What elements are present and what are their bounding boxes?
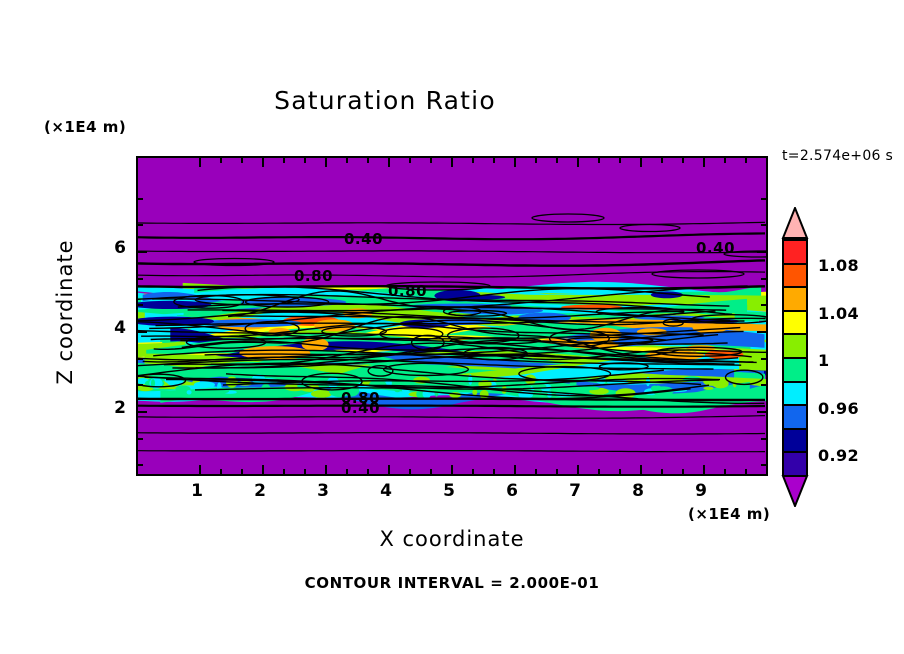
x-tick-minor xyxy=(430,469,432,474)
x-tick-label: 1 xyxy=(182,481,212,501)
x-tick-label: 2 xyxy=(245,481,275,501)
contour-label: 0.80 xyxy=(292,267,335,285)
x-tick-minor xyxy=(346,469,348,474)
x-tick-top-minor xyxy=(472,158,474,163)
y-tick-right-major xyxy=(757,251,766,253)
y-tick-label: 6 xyxy=(104,238,126,258)
y-tick-minor xyxy=(138,278,143,280)
x-tick-top-minor xyxy=(409,158,411,163)
colorbar-band xyxy=(784,312,806,336)
y-tick-right-minor xyxy=(761,304,766,306)
x-tick-top-major xyxy=(703,158,705,167)
colorbar-band xyxy=(784,359,806,383)
x-tick-minor xyxy=(283,469,285,474)
x-tick-minor xyxy=(682,469,684,474)
colorbar-band xyxy=(784,406,806,430)
x-tick-label: 6 xyxy=(497,481,527,501)
x-tick-top-major xyxy=(325,158,327,167)
x-tick-top-minor xyxy=(493,158,495,163)
contour-field xyxy=(138,158,766,474)
x-tick-label: 3 xyxy=(308,481,338,501)
x-tick-minor xyxy=(472,469,474,474)
colorbar[interactable] xyxy=(781,207,809,507)
x-tick-top-major xyxy=(514,158,516,167)
y-tick-minor xyxy=(138,438,143,440)
x-tick-top-major xyxy=(451,158,453,167)
x-tick-major xyxy=(640,465,642,474)
x-tick-label: 4 xyxy=(371,481,401,501)
x-tick-top-minor xyxy=(535,158,537,163)
colorbar-tick-label: 0.92 xyxy=(818,446,859,465)
y-tick-minor xyxy=(138,464,143,466)
y-tick-minor xyxy=(138,384,143,386)
x-axis-units-label: (×1E4 m) xyxy=(688,505,770,523)
y-tick-right-minor xyxy=(761,198,766,200)
x-tick-top-minor xyxy=(724,158,726,163)
x-tick-minor xyxy=(493,469,495,474)
x-tick-minor xyxy=(367,469,369,474)
x-tick-top-minor xyxy=(367,158,369,163)
colorbar-band xyxy=(784,430,806,454)
colorbar-bands[interactable] xyxy=(782,239,808,475)
colorbar-tick-label: 1 xyxy=(818,351,830,370)
colorbar-tick-label: 0.96 xyxy=(818,399,859,418)
x-tick-top-minor xyxy=(346,158,348,163)
x-tick-minor xyxy=(409,469,411,474)
y-tick-label: 4 xyxy=(104,318,126,338)
x-tick-major xyxy=(577,465,579,474)
x-tick-minor xyxy=(304,469,306,474)
colorbar-bottom-arrow-icon xyxy=(781,475,809,507)
x-tick-label: 5 xyxy=(434,481,464,501)
x-axis-title: X coordinate xyxy=(136,527,768,551)
colorbar-band xyxy=(784,453,806,477)
colorbar-tick-label: 1.08 xyxy=(818,256,859,275)
y-tick-minor xyxy=(138,358,143,360)
x-tick-minor xyxy=(724,469,726,474)
colorbar-band xyxy=(784,265,806,289)
x-tick-minor xyxy=(619,469,621,474)
y-axis-title: Z coordinate xyxy=(53,212,77,412)
x-tick-top-minor xyxy=(619,158,621,163)
y-tick-right-minor xyxy=(761,464,766,466)
y-tick-right-minor xyxy=(761,358,766,360)
x-tick-minor xyxy=(661,469,663,474)
x-tick-minor xyxy=(535,469,537,474)
y-tick-right-minor xyxy=(761,438,766,440)
contour-label: 0.40 xyxy=(339,399,382,417)
x-tick-top-major xyxy=(640,158,642,167)
x-tick-major xyxy=(703,465,705,474)
colorbar-band xyxy=(784,241,806,265)
x-tick-major xyxy=(514,465,516,474)
colorbar-tick-label: 1.04 xyxy=(818,304,859,323)
x-tick-minor xyxy=(241,469,243,474)
x-tick-minor xyxy=(598,469,600,474)
colorbar-band xyxy=(784,288,806,312)
x-tick-minor xyxy=(556,469,558,474)
y-tick-right-minor xyxy=(761,278,766,280)
y-tick-minor xyxy=(138,224,143,226)
page-title: Saturation Ratio xyxy=(0,86,770,115)
x-tick-major xyxy=(388,465,390,474)
colorbar-top-arrow-icon xyxy=(781,207,809,239)
y-tick-minor xyxy=(138,198,143,200)
x-tick-top-minor xyxy=(661,158,663,163)
x-tick-top-minor xyxy=(283,158,285,163)
x-tick-top-major xyxy=(577,158,579,167)
contour-label: 0.40 xyxy=(342,230,385,248)
x-tick-minor xyxy=(220,469,222,474)
x-tick-label: 9 xyxy=(686,481,716,501)
contour-plot-area[interactable]: 0.400.800.800.400.800.40 xyxy=(136,156,768,476)
x-tick-top-minor xyxy=(745,158,747,163)
y-tick-right-minor xyxy=(761,224,766,226)
y-tick-right-minor xyxy=(761,384,766,386)
colorbar-band xyxy=(784,383,806,407)
x-tick-minor xyxy=(745,469,747,474)
y-tick-major xyxy=(138,411,147,413)
x-tick-top-minor xyxy=(430,158,432,163)
y-tick-right-major xyxy=(757,331,766,333)
contour-interval-caption: CONTOUR INTERVAL = 2.000E-01 xyxy=(136,574,768,592)
x-tick-top-minor xyxy=(304,158,306,163)
y-tick-major xyxy=(138,251,147,253)
y-tick-minor xyxy=(138,304,143,306)
y-tick-label: 2 xyxy=(104,398,126,418)
x-tick-label: 8 xyxy=(623,481,653,501)
y-tick-major xyxy=(138,331,147,333)
x-tick-top-minor xyxy=(598,158,600,163)
x-tick-major xyxy=(451,465,453,474)
contour-label: 0.40 xyxy=(694,239,737,257)
colorbar-band xyxy=(784,335,806,359)
x-tick-top-major xyxy=(262,158,264,167)
x-tick-label: 7 xyxy=(560,481,590,501)
x-tick-top-minor xyxy=(682,158,684,163)
x-tick-top-minor xyxy=(241,158,243,163)
x-tick-top-major xyxy=(199,158,201,167)
contour-label: 0.80 xyxy=(386,282,429,300)
y-tick-right-major xyxy=(757,411,766,413)
y-axis-units-label: (×1E4 m) xyxy=(44,118,126,136)
x-tick-major xyxy=(199,465,201,474)
x-tick-top-minor xyxy=(220,158,222,163)
x-tick-major xyxy=(325,465,327,474)
x-tick-top-major xyxy=(388,158,390,167)
x-tick-top-minor xyxy=(556,158,558,163)
timestamp-annotation: t=2.574e+06 s xyxy=(782,148,893,164)
x-tick-major xyxy=(262,465,264,474)
